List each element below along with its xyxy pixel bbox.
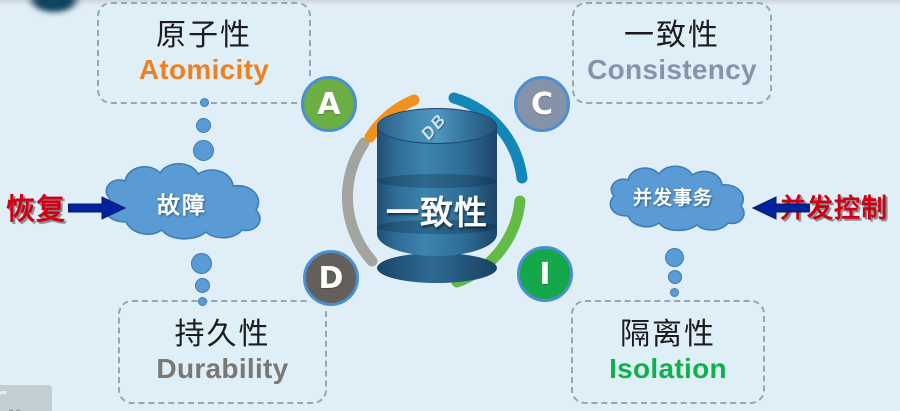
db-consistency-label: 一致性 bbox=[363, 186, 511, 234]
concept-box-atomicity: 原子性 Atomicity bbox=[97, 2, 311, 104]
video-overlay-blob bbox=[28, 0, 80, 12]
connector-dot bbox=[191, 253, 212, 274]
arrow-left-icon bbox=[752, 196, 810, 220]
badge-durability-letter: D bbox=[319, 261, 344, 296]
concept-box-consistency-cn: 一致性 bbox=[624, 19, 720, 52]
cloud-concurrent-label: 并发事务 bbox=[600, 183, 746, 210]
concept-box-durability-cn: 持久性 bbox=[175, 318, 271, 351]
badge-consistency[interactable]: C bbox=[514, 76, 570, 132]
badge-durability[interactable]: D bbox=[303, 250, 359, 306]
connector-dot bbox=[198, 297, 207, 306]
concept-box-atomicity-cn: 原子性 bbox=[156, 19, 252, 52]
badge-atomicity-letter: A bbox=[317, 87, 340, 122]
slide-canvas: 原子性 Atomicity 一致性 Consistency 持久性 Durabi… bbox=[0, 0, 900, 411]
connector-dot bbox=[196, 118, 211, 133]
concept-box-durability-en: Durability bbox=[156, 353, 288, 385]
badge-atomicity[interactable]: A bbox=[301, 76, 357, 132]
connector-dot bbox=[200, 98, 209, 107]
concept-box-isolation-en: Isolation bbox=[609, 353, 727, 385]
arrow-right-icon bbox=[68, 196, 126, 220]
connector-dot bbox=[195, 278, 210, 293]
connector-dot bbox=[670, 288, 679, 297]
concept-box-consistency: 一致性 Consistency bbox=[572, 2, 772, 104]
cylinder-bottom bbox=[377, 253, 497, 283]
database-cylinder: DB 一致性 bbox=[377, 108, 497, 273]
connector-dot bbox=[193, 140, 214, 161]
badge-consistency-letter: C bbox=[531, 87, 553, 122]
badge-isolation-letter: I bbox=[539, 257, 550, 292]
badge-isolation[interactable]: I bbox=[517, 246, 573, 302]
player-control-overlay[interactable]: 00 bbox=[0, 385, 52, 411]
label-recovery: 恢复 bbox=[6, 186, 66, 228]
concept-box-atomicity-en: Atomicity bbox=[139, 54, 269, 86]
connector-dot bbox=[668, 270, 682, 284]
concept-box-isolation: 隔离性 Isolation bbox=[571, 300, 765, 404]
concept-box-consistency-en: Consistency bbox=[587, 54, 757, 86]
concept-box-isolation-cn: 隔离性 bbox=[620, 318, 716, 351]
connector-dot bbox=[665, 248, 684, 267]
cloud-concurrent-transactions: 并发事务 bbox=[600, 163, 746, 233]
concept-box-durability: 持久性 Durability bbox=[118, 300, 327, 404]
